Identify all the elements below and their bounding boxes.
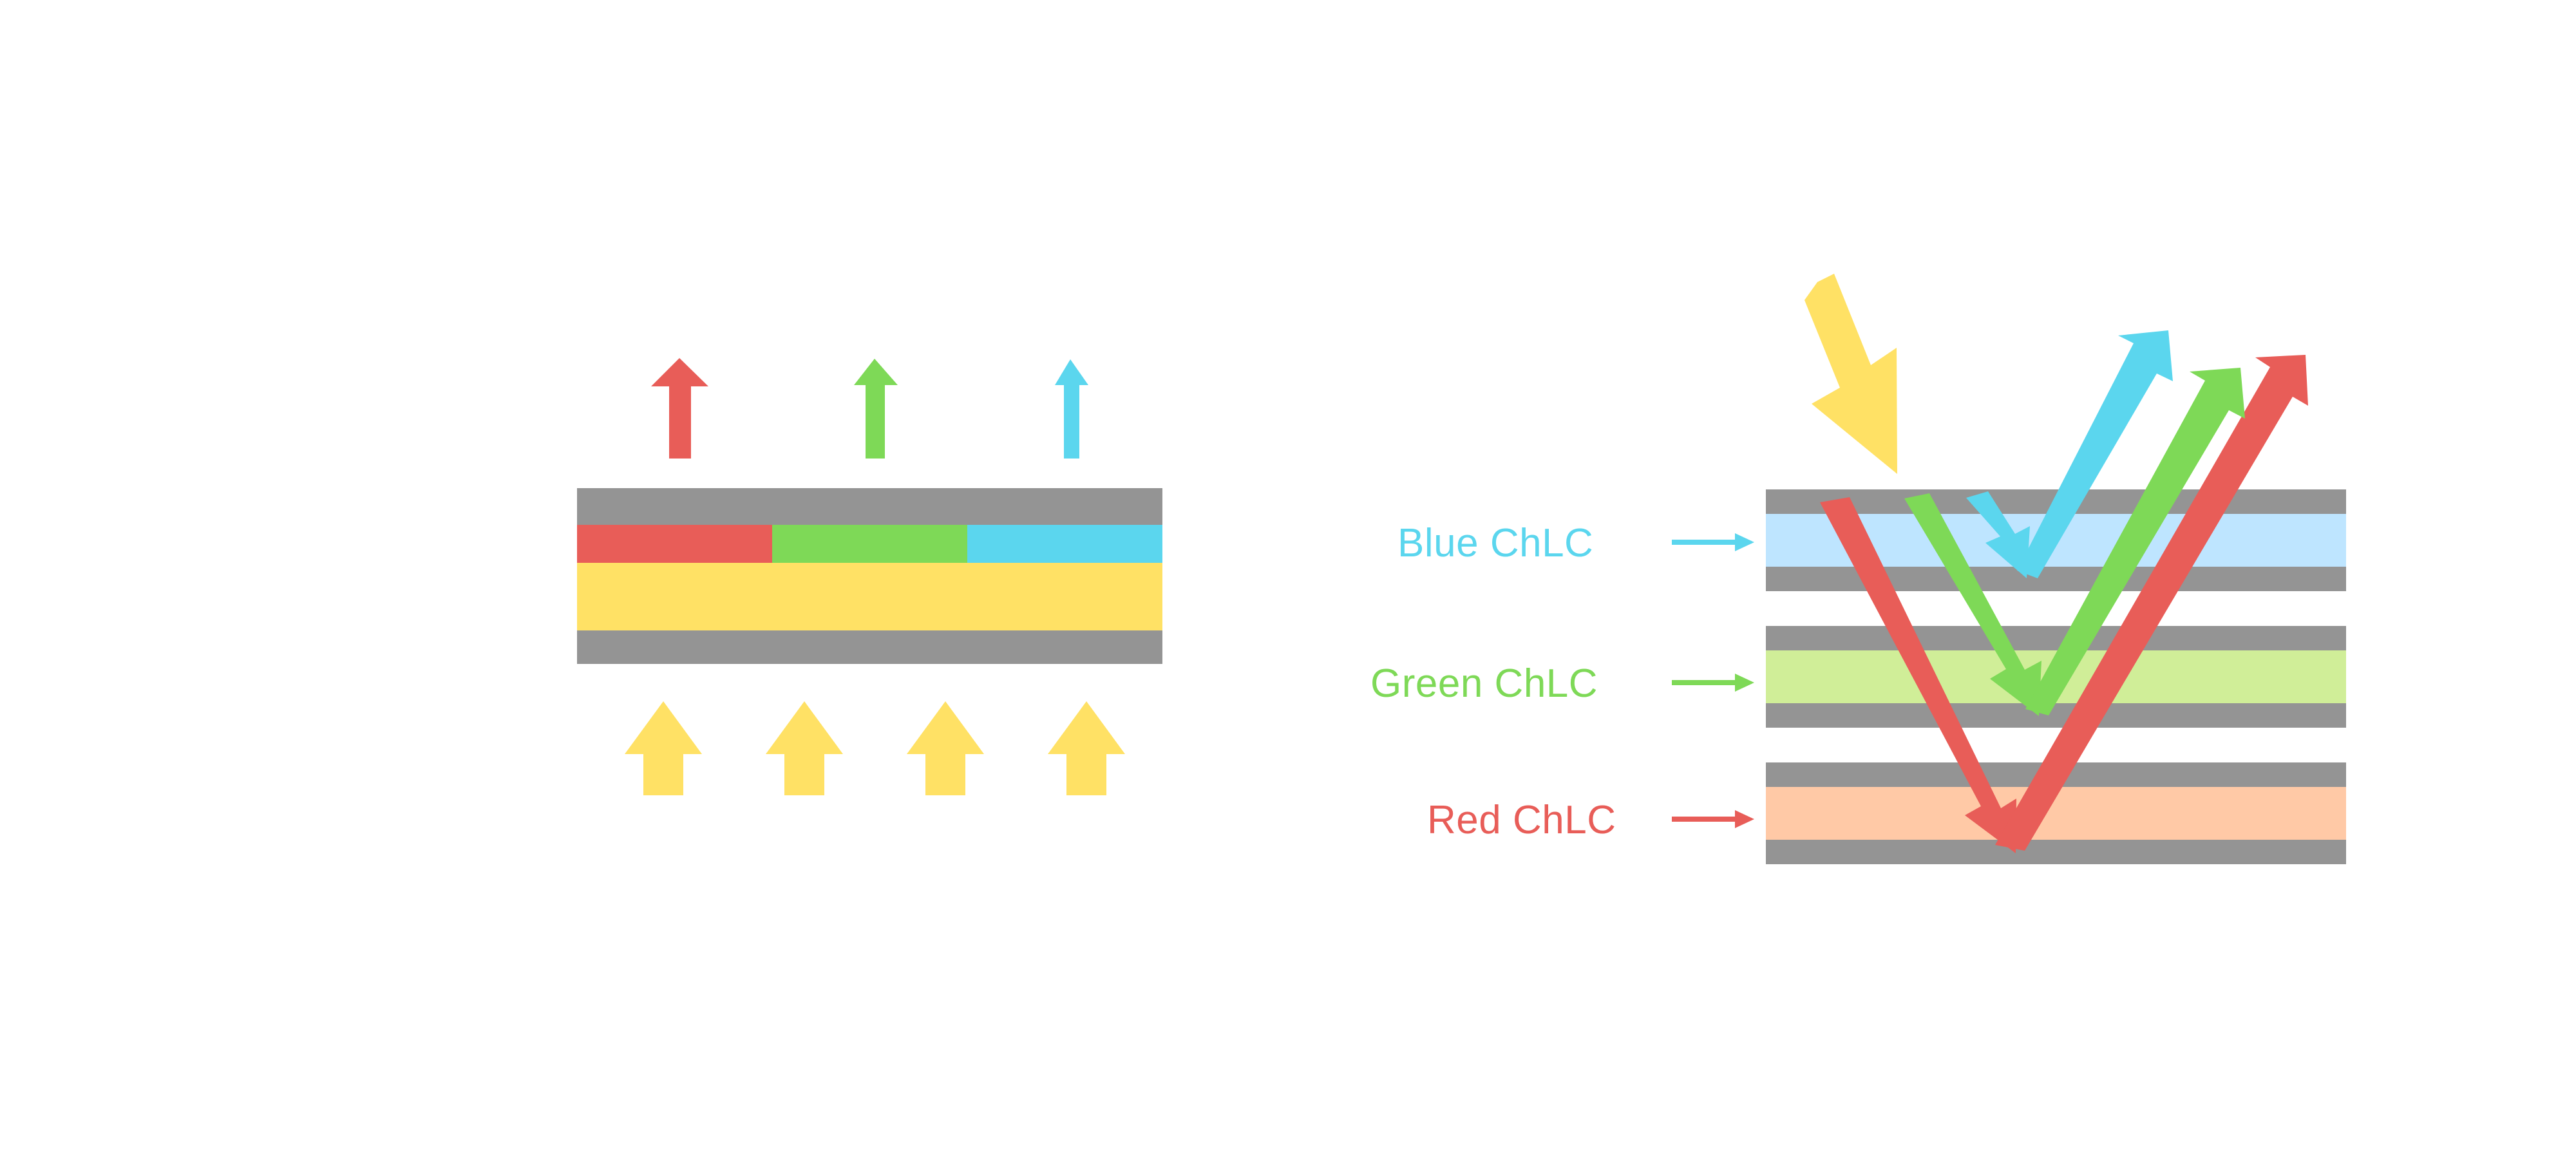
green-cell-top-substrate xyxy=(1766,626,2346,650)
chlc-reflective-stack-panel xyxy=(1672,274,2346,864)
yellow-backlight-arrows xyxy=(625,701,1125,795)
red-filter xyxy=(577,525,772,563)
red-chlc-label: Red ChLC xyxy=(1427,797,1616,843)
green-emission-arrow xyxy=(854,359,898,459)
red-chlc-leader-arrow xyxy=(1672,810,1754,828)
green-chlc-label: Green ChLC xyxy=(1370,661,1598,706)
yellow-backlight-layer xyxy=(577,563,1162,630)
emissive-layer-stack xyxy=(577,488,1162,664)
red-cell-bottom-substrate xyxy=(1766,840,2346,864)
green-cell-bottom-substrate xyxy=(1766,703,2346,728)
emissive-stack-panel xyxy=(577,358,1162,795)
diagram-svg xyxy=(0,0,2576,1154)
red-emission-arrow xyxy=(651,358,708,459)
blue-emission-arrow xyxy=(1055,359,1088,459)
diagram-canvas: Blue ChLC Green ChLC Red ChLC xyxy=(0,0,2576,1154)
blue-chlc-label: Blue ChLC xyxy=(1397,520,1593,566)
blue-cell-bottom-substrate xyxy=(1766,567,2346,591)
white-light-incident-arrow xyxy=(1804,274,1897,474)
blue-chlc-leader-arrow xyxy=(1672,533,1754,551)
green-chlc-leader-arrow xyxy=(1672,674,1754,692)
blue-filter xyxy=(967,525,1162,563)
top-electrode xyxy=(577,488,1162,525)
green-filter xyxy=(772,525,967,563)
bottom-electrode xyxy=(577,630,1162,664)
